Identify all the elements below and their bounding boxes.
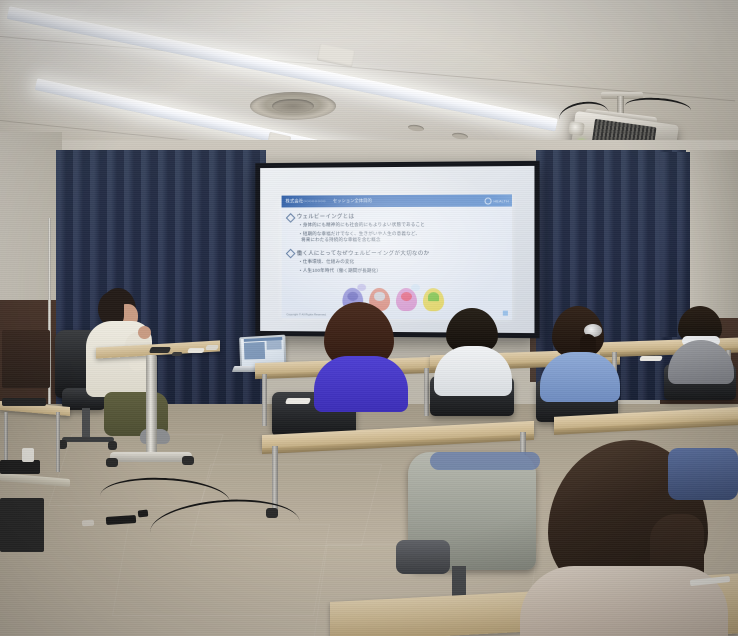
person-attendee-center bbox=[434, 308, 512, 396]
slide-header-title: 株式会社○○○○○○○○ bbox=[285, 198, 325, 204]
projected-slide: 株式会社○○○○○○○○ セッション全体目的 HEALTH ウェルビーイングとは… bbox=[282, 194, 512, 319]
cable-connector bbox=[82, 520, 94, 527]
person-attendee-far-right bbox=[668, 306, 734, 380]
attendee-torso bbox=[668, 340, 734, 384]
slide-logo-mark-icon bbox=[485, 198, 492, 205]
laptop-window bbox=[244, 342, 265, 360]
slide-section: ウェルビーイングとは ・身体的にも精神的にも社会的にもよりよい状態であること ・… bbox=[287, 212, 505, 244]
equipment-box bbox=[0, 460, 40, 474]
diamond-bullet-icon bbox=[286, 213, 295, 222]
slide-bullet: ・仕事環境、仕組みの変化 bbox=[298, 259, 506, 266]
equipment-case bbox=[0, 498, 44, 552]
cable-connector bbox=[138, 509, 149, 517]
heart-icon bbox=[401, 292, 412, 301]
mouse[interactable] bbox=[205, 345, 219, 350]
attendee-torso bbox=[434, 346, 512, 396]
slide-bullet: 将来にわたる持続的な幸福を含む概念 bbox=[301, 237, 506, 244]
slide-section: 働く人にとってなぜウェルビーイングが大切なのか ・仕事環境、仕組みの変化 ・人生… bbox=[287, 249, 505, 275]
slide-body: ウェルビーイングとは ・身体的にも精神的にも社会的にもよりよい状態であること ・… bbox=[282, 207, 512, 275]
chair-blue-trim bbox=[430, 452, 540, 470]
laptop-window bbox=[266, 340, 281, 350]
cable-bundle bbox=[2, 398, 46, 406]
classroom-photo: 株式会社○○○○○○○○ セッション全体目的 HEALTH ウェルビーイングとは… bbox=[0, 0, 738, 636]
slide-logo-text: HEALTH bbox=[494, 199, 509, 203]
person-attendee-right bbox=[540, 306, 620, 400]
pull-rod[interactable] bbox=[48, 218, 51, 430]
person-attendee-front-left bbox=[318, 302, 410, 402]
paper-sheet bbox=[22, 448, 34, 462]
slide-section-heading-row: ウェルビーイングとは bbox=[287, 212, 505, 221]
desk-caster bbox=[182, 456, 194, 465]
slide-bullet: ・人生100年時代（働く期間が長期化） bbox=[298, 267, 506, 274]
paper-sheet bbox=[285, 398, 311, 404]
brain-icon bbox=[374, 292, 385, 301]
ceiling-vent-icon bbox=[250, 92, 336, 120]
head-inner-icon bbox=[347, 292, 358, 301]
desk-device bbox=[149, 347, 171, 353]
desk-leg bbox=[424, 368, 429, 416]
paper-note bbox=[187, 348, 205, 353]
desk-caster bbox=[106, 458, 118, 467]
chair-blue-fragment[interactable] bbox=[668, 448, 738, 500]
slide-header: 株式会社○○○○○○○○ セッション全体目的 HEALTH bbox=[282, 194, 512, 207]
foreground-torso bbox=[520, 566, 728, 636]
slide-header-subtitle: セッション全体目的 bbox=[333, 198, 372, 204]
slide-logo: HEALTH bbox=[485, 197, 509, 204]
diamond-bullet-icon bbox=[286, 249, 295, 258]
floor-cable bbox=[228, 400, 288, 450]
attendee-torso bbox=[540, 352, 620, 402]
paper-sheet bbox=[639, 356, 663, 361]
presenter-hand bbox=[138, 326, 151, 339]
presenter-desk-column bbox=[146, 355, 157, 455]
person-presenter bbox=[86, 288, 172, 458]
slide-section-heading: ウェルビーイングとは bbox=[297, 212, 355, 220]
plant-sprout-icon bbox=[428, 292, 439, 301]
attendee-torso bbox=[314, 356, 408, 412]
slide-section-heading: 働く人にとってなぜウェルビーイングが大切なのか bbox=[297, 249, 430, 257]
chair-armrest bbox=[396, 540, 450, 574]
presenter-desk-base bbox=[110, 452, 192, 462]
dark-panel bbox=[2, 330, 50, 388]
slide-section-heading-row: 働く人にとってなぜウェルビーイングが大切なのか bbox=[287, 249, 505, 257]
slide-bullet: ・身体的にも精神的にも社会的にもよりよい状態であること bbox=[298, 222, 506, 229]
table-leg bbox=[56, 412, 60, 472]
